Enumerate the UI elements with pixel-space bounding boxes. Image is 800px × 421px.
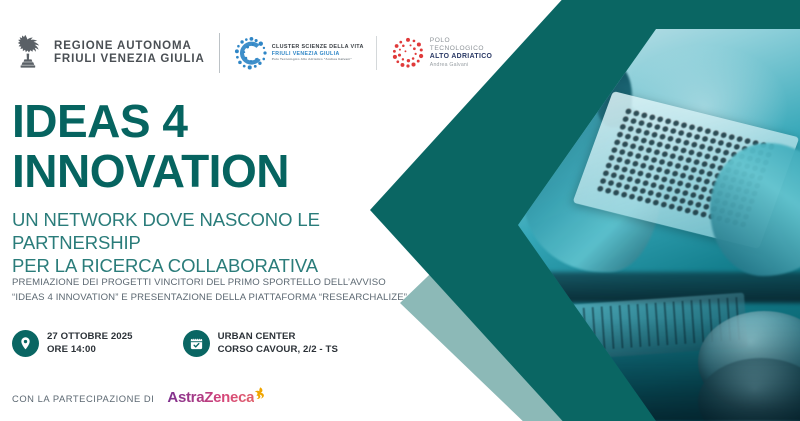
cluster-line-2: FRIULI VENEZIA GIULIA — [272, 52, 364, 57]
logo-polo-tecnologico: POLO TECNOLOGICO ALTO ADRIATICO Andrea G… — [377, 36, 492, 70]
cluster-line-3: Polo Tecnologico Alto Adriatico “Andrea … — [272, 58, 364, 61]
title-line-1: IDEAS 4 — [12, 96, 289, 146]
polo-line-3: ALTO ADRIATICO — [430, 54, 492, 61]
polo-logo-text: POLO TECNOLOGICO ALTO ADRIATICO Andrea G… — [430, 38, 492, 68]
regione-line-1: REGIONE AUTONOMA — [54, 40, 205, 53]
location-pin-icon — [18, 336, 33, 351]
event-poster: REGIONE AUTONOMA FRIULI VENEZIA GIULIA — [0, 0, 800, 421]
event-date-item: 27 OTTOBRE 2025 ORE 14:00 — [12, 330, 133, 357]
polo-dots-icon — [391, 36, 425, 70]
polo-line-4: Andrea Galvani — [430, 63, 492, 68]
event-date-line-2: ORE 14:00 — [47, 344, 133, 357]
title-line-2: INNOVATION — [12, 146, 289, 196]
event-info-row: 27 OTTOBRE 2025 ORE 14:00 — [12, 330, 338, 357]
regione-line-2: FRIULI VENEZIA GIULIA — [54, 53, 205, 66]
logo-strip: REGIONE AUTONOMA FRIULI VENEZIA GIULIA — [12, 33, 492, 73]
subtitle-line-2: PER LA RICERCA COLLABORATIVA — [12, 254, 450, 277]
event-description: PREMIAZIONE DEI PROGETTI VINCITORI DEL P… — [12, 275, 407, 305]
eagle-crest-icon — [12, 33, 44, 73]
logo-cluster-scienze-della-vita: CLUSTER SCIENZE DELLA VITA FRIULI VENEZI… — [222, 36, 377, 70]
cluster-dots-icon — [234, 36, 268, 70]
event-venue-line-1: URBAN CENTER — [218, 331, 338, 344]
polo-line-2: TECNOLOGICO — [430, 46, 492, 53]
page-title: IDEAS 4 INNOVATION — [12, 96, 289, 196]
event-venue-text: URBAN CENTER CORSO CAVOUR, 2/2 - TS — [218, 331, 338, 356]
subtitle-line-1: UN NETWORK DOVE NASCONO LE PARTNERSHIP — [12, 208, 450, 254]
footer-label: CON LA PARTECIPAZIONE DI — [12, 393, 154, 404]
event-venue-line-2: CORSO CAVOUR, 2/2 - TS — [218, 344, 338, 357]
cluster-logo-text: CLUSTER SCIENZE DELLA VITA FRIULI VENEZI… — [272, 45, 364, 62]
astrazeneca-flourish-icon — [251, 386, 267, 402]
cluster-line-1: CLUSTER SCIENZE DELLA VITA — [272, 45, 364, 50]
regione-logo-text: REGIONE AUTONOMA FRIULI VENEZIA GIULIA — [54, 40, 205, 66]
event-date-line-1: 27 OTTOBRE 2025 — [47, 331, 133, 344]
astrazeneca-wordmark: AstraZeneca — [167, 390, 254, 406]
polo-line-1: POLO — [430, 38, 492, 45]
page-subtitle: UN NETWORK DOVE NASCONO LE PARTNERSHIP P… — [12, 208, 450, 277]
calendar-check-badge — [183, 330, 210, 357]
logo-astrazeneca: AstraZeneca — [167, 390, 267, 406]
location-pin-badge — [12, 330, 39, 357]
logo-regione-autonoma-fvg: REGIONE AUTONOMA FRIULI VENEZIA GIULIA — [12, 33, 220, 73]
description-line-1: PREMIAZIONE DEI PROGETTI VINCITORI DEL P… — [12, 275, 407, 290]
description-line-2: “IDEAS 4 INNOVATION” E PRESENTAZIONE DEL… — [12, 290, 407, 305]
calendar-check-icon — [189, 336, 204, 351]
event-venue-item: URBAN CENTER CORSO CAVOUR, 2/2 - TS — [183, 330, 338, 357]
footer-partner-row: CON LA PARTECIPAZIONE DI AstraZeneca — [12, 390, 267, 406]
poster-content: REGIONE AUTONOMA FRIULI VENEZIA GIULIA — [10, 0, 450, 421]
event-date-text: 27 OTTOBRE 2025 ORE 14:00 — [47, 331, 133, 356]
